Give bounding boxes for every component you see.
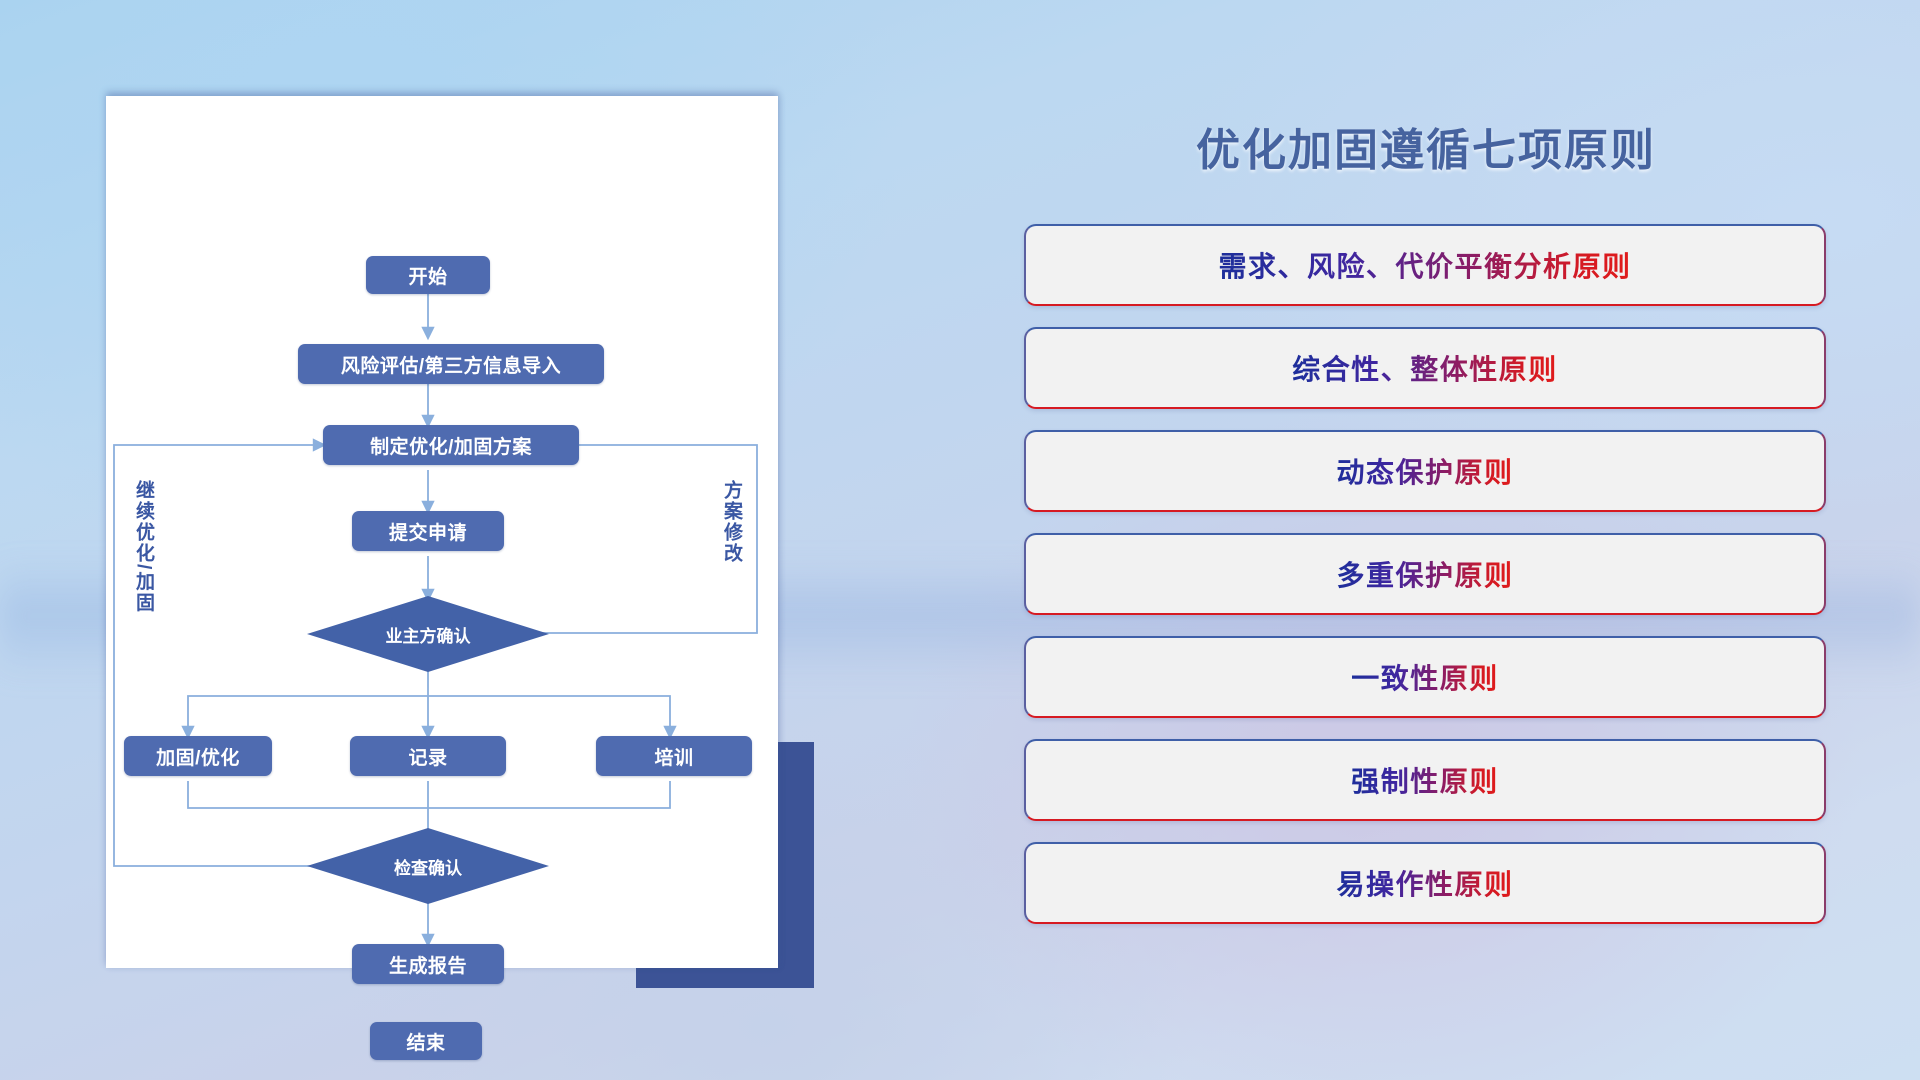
- principle-item-1[interactable]: 需求、风险、代价平衡分析原则: [1024, 224, 1826, 306]
- flow-node-plan[interactable]: 制定优化/加固方案: [323, 425, 579, 465]
- principle-label: 动态保护原则: [1336, 451, 1513, 491]
- principle-label: 多重保护原则: [1336, 554, 1513, 594]
- principle-label: 一致性原则: [1351, 657, 1499, 697]
- principle-item-2[interactable]: 综合性、整体性原则: [1024, 327, 1826, 409]
- flow-node-submit-application[interactable]: 提交申请: [352, 511, 504, 551]
- flow-edge-label-continue-optimize: 继续优化/加固: [134, 480, 153, 613]
- flowchart: 开始 风险评估/第三方信息导入 制定优化/加固方案 提交申请 业主方确认 加固/…: [106, 96, 778, 968]
- flow-node-end[interactable]: 结束: [370, 1022, 482, 1060]
- principle-label: 易操作性原则: [1336, 863, 1513, 903]
- flow-node-reinforce-optimize[interactable]: 加固/优化: [124, 736, 272, 776]
- principle-item-3[interactable]: 动态保护原则: [1024, 430, 1826, 512]
- flow-node-risk-assessment[interactable]: 风险评估/第三方信息导入: [298, 344, 604, 384]
- flow-node-start[interactable]: 开始: [366, 256, 490, 294]
- principle-label: 综合性、整体性原则: [1292, 348, 1558, 388]
- flow-node-generate-report[interactable]: 生成报告: [352, 944, 504, 984]
- principle-item-7[interactable]: 易操作性原则: [1024, 842, 1826, 924]
- principles-panel: 优化加固遵循七项原则 需求、风险、代价平衡分析原则 综合性、整体性原则 动态保护…: [1020, 96, 1832, 1016]
- flow-node-record[interactable]: 记录: [350, 736, 506, 776]
- principles-list: 需求、风险、代价平衡分析原则 综合性、整体性原则 动态保护原则 多重保护原则 一…: [1024, 224, 1826, 945]
- page-title: 优化加固遵循七项原则: [1020, 114, 1832, 178]
- principle-item-6[interactable]: 强制性原则: [1024, 739, 1826, 821]
- principle-item-4[interactable]: 多重保护原则: [1024, 533, 1826, 615]
- principle-item-5[interactable]: 一致性原则: [1024, 636, 1826, 718]
- principle-label: 强制性原则: [1351, 760, 1499, 800]
- flow-node-training[interactable]: 培训: [596, 736, 752, 776]
- flowchart-card: 开始 风险评估/第三方信息导入 制定优化/加固方案 提交申请 业主方确认 加固/…: [106, 96, 778, 968]
- principle-label: 需求、风险、代价平衡分析原则: [1218, 245, 1631, 285]
- flow-edge-label-plan-revision: 方案修改: [722, 480, 741, 564]
